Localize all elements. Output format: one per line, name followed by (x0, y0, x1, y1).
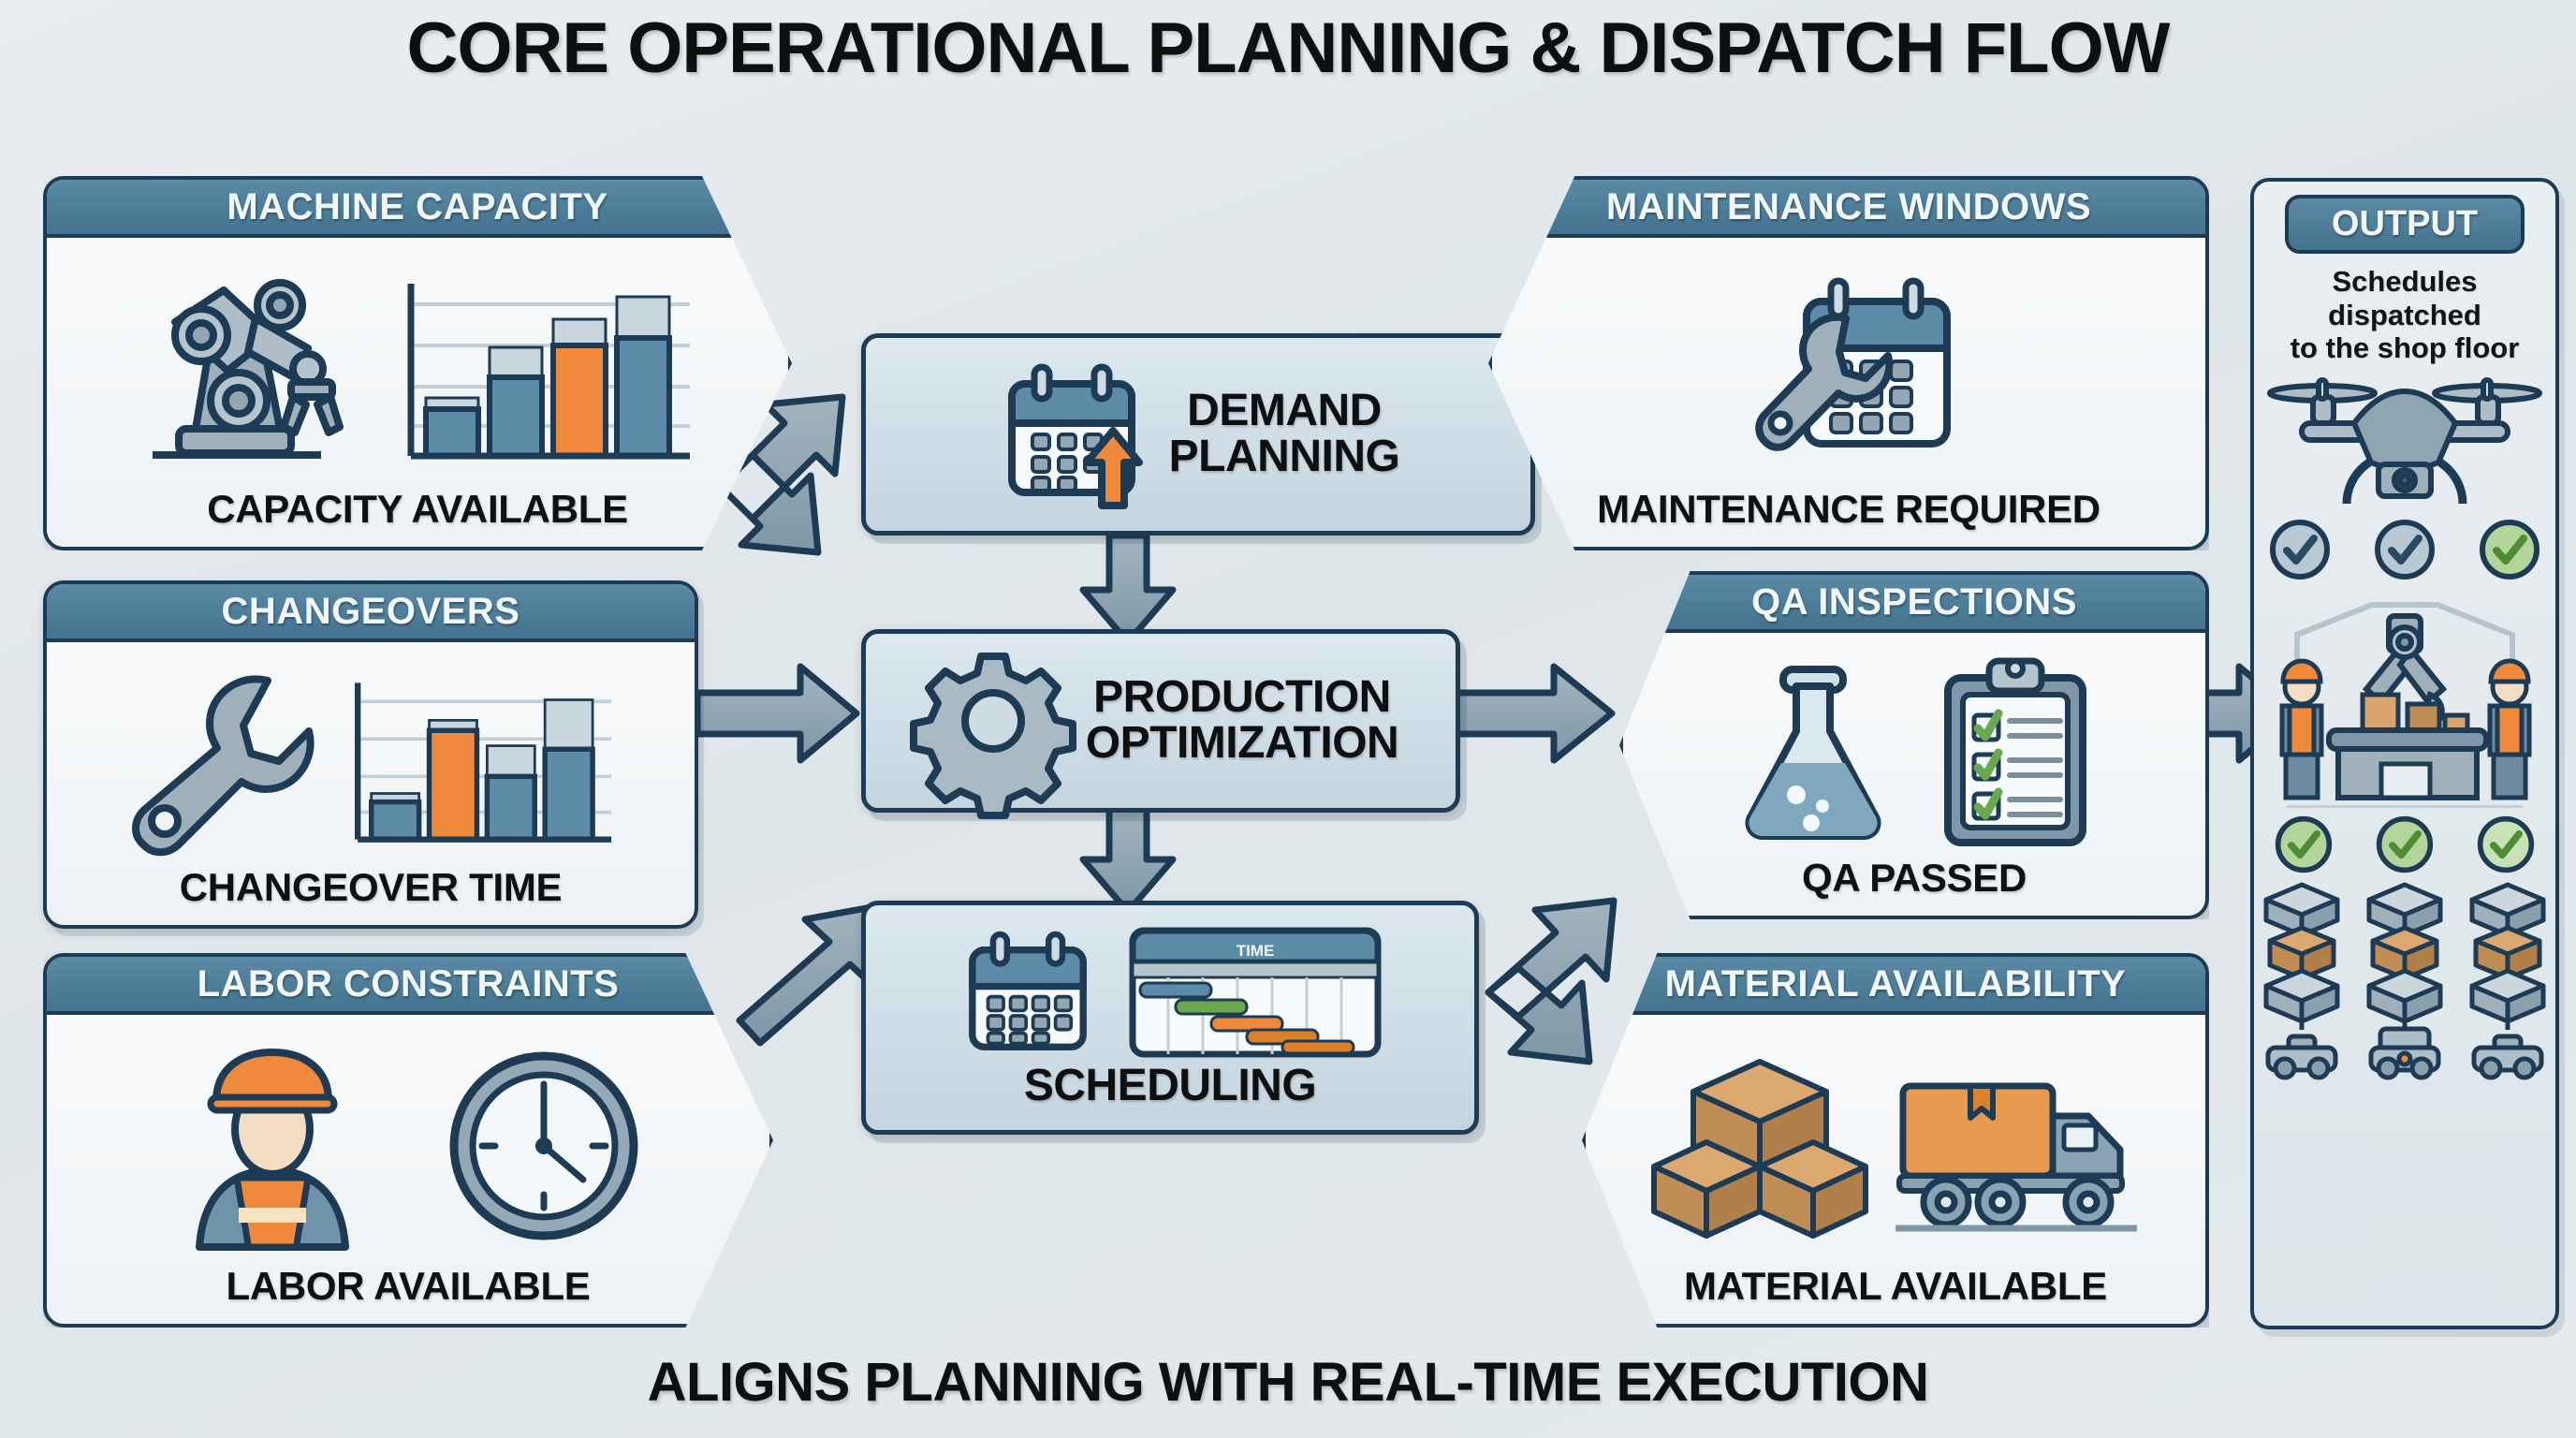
factory-workers-icon (2269, 584, 2540, 800)
clock-icon (441, 1039, 647, 1255)
worker-icon (169, 1039, 375, 1255)
panel-caption-material-availability: MATERIAL AVAILABLE (1684, 1264, 2107, 1313)
output-divider (2287, 805, 2522, 808)
panel-caption-maintenance-windows: MAINTENANCE REQUIRED (1597, 487, 2100, 536)
agv-robot-icon (2364, 881, 2446, 1068)
robot-arm-icon (134, 262, 368, 477)
bar-chart-icon (392, 267, 701, 473)
panel-machine-capacity[interactable]: MACHINE CAPACITY (43, 176, 792, 550)
wrench-icon (120, 668, 316, 855)
output-header: OUTPUT (2285, 195, 2525, 254)
drone-icon (2264, 373, 2545, 513)
panel-maintenance-windows[interactable]: MAINTENANCE WINDOWS MAINTENANC (1488, 176, 2209, 550)
check-badge-icon (2475, 814, 2537, 875)
output-check-row-2 (2273, 814, 2537, 875)
panel-qa-inspections[interactable]: QA INSPECTIONS (1619, 571, 2209, 919)
panel-header-material-availability: MATERIAL AVAILABILITY (1586, 957, 2205, 1015)
process-production-optimization[interactable]: PRODUCTION OPTIMIZATION (861, 629, 1460, 813)
calendar-up-arrow-icon (997, 359, 1147, 509)
panel-header-maintenance-windows: MAINTENANCE WINDOWS (1492, 180, 2205, 238)
boxes-icon (1652, 1049, 1867, 1245)
process-demand-planning[interactable]: DEMAND PLANNING (861, 333, 1535, 536)
calendar-wrench-icon (1732, 271, 1966, 468)
arrow-production-scheduling (1083, 807, 1173, 912)
arrow-material-scheduling (1488, 901, 1614, 1062)
check-badge-icon (2273, 814, 2334, 875)
panel-material-availability[interactable]: MATERIAL AVAILABILITY (1582, 953, 2209, 1328)
panel-caption-labor-constraints: LABOR AVAILABLE (226, 1264, 590, 1313)
panel-caption-machine-capacity: CAPACITY AVAILABLE (207, 487, 628, 536)
panel-header-qa-inspections: QA INSPECTIONS (1623, 575, 2205, 633)
panel-output[interactable]: OUTPUT Schedules dispatched to the shop … (2250, 178, 2559, 1329)
panel-header-labor-constraints: LABOR CONSTRAINTS (47, 957, 769, 1015)
gantt-chart-icon: TIME (1129, 927, 1382, 1058)
process-label-scheduling: SCHEDULING (1024, 1064, 1316, 1109)
output-subtitle-line2: to the shop floor (2254, 331, 2555, 365)
process-label-line2: PLANNING (1169, 434, 1400, 480)
agv-robot-icon (2466, 881, 2549, 1068)
arrow-demand-production (1083, 536, 1173, 642)
arrow-changeover-production (697, 667, 856, 760)
check-badge-icon (2267, 517, 2333, 582)
panel-header-changeovers: CHANGEOVERS (47, 584, 695, 642)
check-badge-icon (2372, 517, 2437, 582)
check-badge-icon (2374, 814, 2436, 875)
diagram-canvas: CORE OPERATIONAL PLANNING & DISPATCH FLO… (0, 0, 2576, 1438)
panel-caption-qa-inspections: QA PASSED (1802, 856, 2027, 904)
process-scheduling[interactable]: TIME SCHEDULING (861, 901, 1479, 1135)
page-title: CORE OPERATIONAL PLANNING & DISPATCH FLO… (0, 7, 2576, 89)
check-badge-icon (2477, 517, 2542, 582)
panel-labor-constraints[interactable]: LABOR CONSTRAINTS (43, 953, 773, 1328)
page-footer: ALIGNS PLANNING WITH REAL-TIME EXECUTION (0, 1351, 2576, 1414)
delivery-truck-icon (1895, 1058, 2139, 1236)
gear-icon (923, 651, 1063, 791)
flask-icon (1729, 658, 1897, 845)
output-agv-row (2261, 881, 2549, 1068)
calendar-gantt-icon (959, 927, 1097, 1058)
bar-chart-icon (341, 668, 622, 855)
agv-robot-icon (2261, 881, 2343, 1068)
panel-caption-changeovers: CHANGEOVER TIME (180, 865, 563, 914)
panel-changeovers[interactable]: CHANGEOVERS (43, 580, 698, 929)
process-label-line1: DEMAND (1169, 389, 1400, 434)
output-check-row-1 (2267, 517, 2542, 582)
process-label-line2: OPTIMIZATION (1086, 721, 1398, 767)
panel-header-machine-capacity: MACHINE CAPACITY (47, 180, 788, 238)
clipboard-check-icon (1931, 653, 2100, 850)
output-subtitle-line1: Schedules dispatched (2254, 265, 2555, 331)
process-label-line1: PRODUCTION (1086, 675, 1398, 721)
gantt-time-header: TIME (1237, 942, 1275, 960)
arrow-production-qa (1456, 667, 1612, 760)
